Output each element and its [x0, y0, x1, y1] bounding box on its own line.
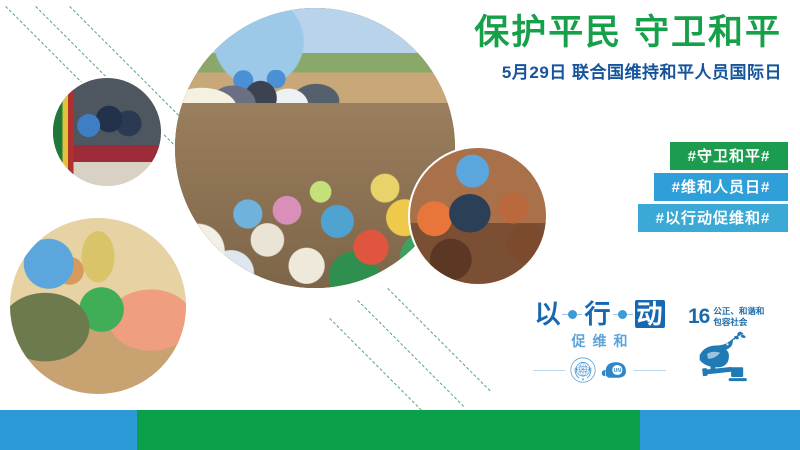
hashtag-weihe-renyuan-ri[interactable]: #维和人员日# [654, 173, 788, 201]
campaign-logo: 以 行 动 促维和 [517, 300, 682, 383]
bar-segment-blue-right [640, 410, 800, 450]
un-helmet-icon: UN [601, 358, 629, 382]
logo-char-dong: 动 [635, 300, 665, 328]
photo-peacekeeper-assisting-civilians [8, 216, 188, 396]
hashtag-yixingdong-cuweihe[interactable]: #以行动促维和# [638, 204, 788, 232]
hashtag-list: #守卫和平# #维和人员日# #以行动促维和# [638, 142, 788, 235]
dash-line [329, 318, 429, 418]
photo-background [410, 148, 546, 284]
bar-segment-green [137, 410, 640, 450]
headline-block: 保护平民 守卫和平 5月29日 联合国维持和平人员国际日 [474, 14, 782, 83]
photo-background [10, 218, 186, 394]
photo-meeting-with-un-flags [51, 76, 163, 188]
bar-segment-blue-left [0, 410, 137, 450]
campaign-logo-line1: 以 行 动 [517, 300, 682, 328]
logo-divider-right [634, 370, 666, 371]
photo-peacekeeper-with-children [408, 146, 548, 286]
logo-char-yi: 以 [534, 301, 560, 327]
sdg-header: 16 公正、和谐和 包容社会 [688, 306, 784, 327]
sdg-goal-16-badge: 16 公正、和谐和 包容社会 [688, 306, 784, 388]
logo-divider-left [533, 370, 565, 371]
dash-line [357, 300, 464, 407]
page-title: 保护平民 守卫和平 [474, 14, 782, 52]
hashtag-shouwei-heping[interactable]: #守卫和平# [670, 142, 788, 170]
dash-line [387, 288, 490, 391]
sdg-number: 16 [688, 306, 709, 327]
svg-text:UN: UN [614, 368, 622, 374]
bottom-color-bar [0, 410, 800, 450]
un-emblem-icon [570, 357, 596, 383]
page-subtitle: 5月29日 联合国维持和平人员国际日 [474, 58, 782, 83]
logo-char-xing: 行 [584, 301, 610, 327]
photo-background [53, 78, 161, 186]
logo-dot-connector-icon [562, 310, 582, 319]
campaign-logo-emblems: UN [517, 357, 682, 383]
sdg-label-line2: 包容社会 [713, 317, 747, 327]
sdg-label: 公正、和谐和 包容社会 [713, 306, 764, 327]
dove-and-gavel-icon [688, 331, 750, 383]
logo-dot-connector-icon [613, 310, 633, 319]
sdg-label-line1: 公正、和谐和 [713, 306, 764, 316]
peacekeepers-day-poster: 保护平民 守卫和平 5月29日 联合国维持和平人员国际日 #守卫和平# #维和人… [0, 0, 800, 450]
campaign-logo-line2: 促维和 [517, 331, 682, 351]
